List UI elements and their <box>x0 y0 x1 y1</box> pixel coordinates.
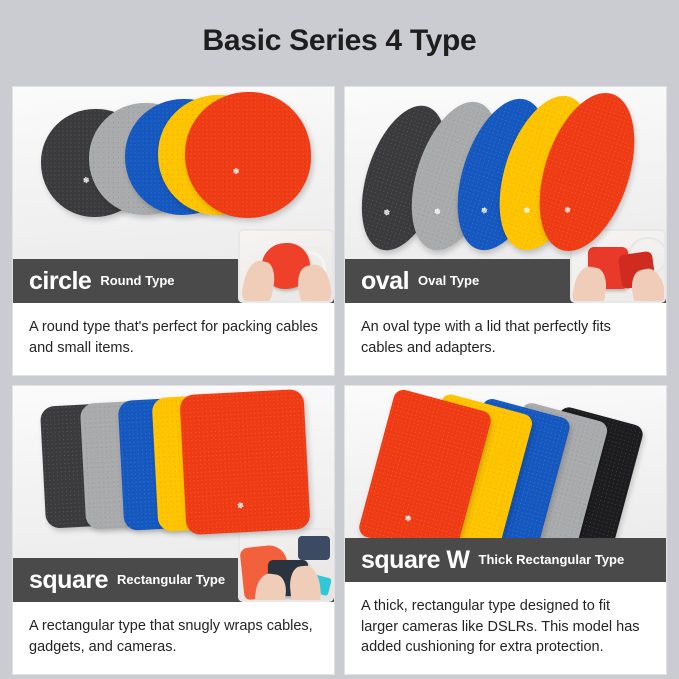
product-card-circle[interactable]: ❄ ❄ ❄ ❄ ❄ circle <box>12 86 335 376</box>
label-main-circle: circle <box>29 269 91 294</box>
label-bar-oval: oval Oval Type <box>345 259 666 303</box>
brand-logo-icon: ❄ <box>82 177 89 186</box>
brand-logo-icon: ❄ <box>232 168 239 177</box>
brand-logo-icon: ❄ <box>237 502 244 511</box>
product-card-square-w[interactable]: ❄ ❄ ❄ ❄ ❄ square W <box>344 385 667 675</box>
inset-photo-square <box>238 528 334 602</box>
brand-logo-icon: ❄ <box>433 208 440 217</box>
brand-logo-icon: ❄ <box>480 207 487 216</box>
label-sub-oval: Oval Type <box>418 274 479 288</box>
description-square: A rectangular type that snugly wraps cab… <box>13 602 334 674</box>
label-sub-square-w: Thick Rectangular Type <box>479 553 625 567</box>
product-card-square[interactable]: ❄ ❄ ❄ ❄ ❄ square <box>12 385 335 675</box>
card-grid: ❄ ❄ ❄ ❄ ❄ circle <box>12 86 667 675</box>
hand-right <box>288 565 322 602</box>
label-bar-square-w: square W Thick Rectangular Type <box>345 538 666 582</box>
inset-scene <box>240 231 332 301</box>
label-main-oval: oval <box>361 269 409 294</box>
label-main-square: square <box>29 568 108 593</box>
label-main-square-w: square W <box>361 548 470 573</box>
description-oval: An oval type with a lid that perfectly f… <box>345 303 666 375</box>
description-square-w: A thick, rectangular type designed to fi… <box>345 582 666 674</box>
label-sub-square: Rectangular Type <box>117 573 225 587</box>
brand-logo-icon: ❄ <box>523 207 530 216</box>
brand-logo-icon: ❄ <box>404 515 411 524</box>
pouch-orange: ❄ <box>185 92 311 218</box>
product-card-oval[interactable]: ❄ ❄ ❄ ❄ ❄ oval <box>344 86 667 376</box>
infographic-page: Basic Series 4 Type ❄ ❄ ❄ ❄ <box>0 0 679 679</box>
navy-camera-bag <box>298 536 330 560</box>
description-circle: A round type that's perfect for packing … <box>13 303 334 375</box>
inset-scene <box>240 530 332 600</box>
label-sub-circle: Round Type <box>100 274 174 288</box>
brand-logo-icon: ❄ <box>563 206 570 215</box>
brand-logo-icon: ❄ <box>383 209 390 218</box>
page-title: Basic Series 4 Type <box>0 24 679 58</box>
pouch-orange: ❄ <box>179 389 310 535</box>
pouch-group-square-w: ❄ ❄ ❄ ❄ ❄ <box>345 386 666 538</box>
label-bar-square: square Rectangular Type <box>13 558 334 602</box>
product-photo-square-w: ❄ ❄ ❄ ❄ ❄ <box>345 386 666 538</box>
inset-photo-circle <box>238 229 334 303</box>
label-bar-circle: circle Round Type <box>13 259 334 303</box>
